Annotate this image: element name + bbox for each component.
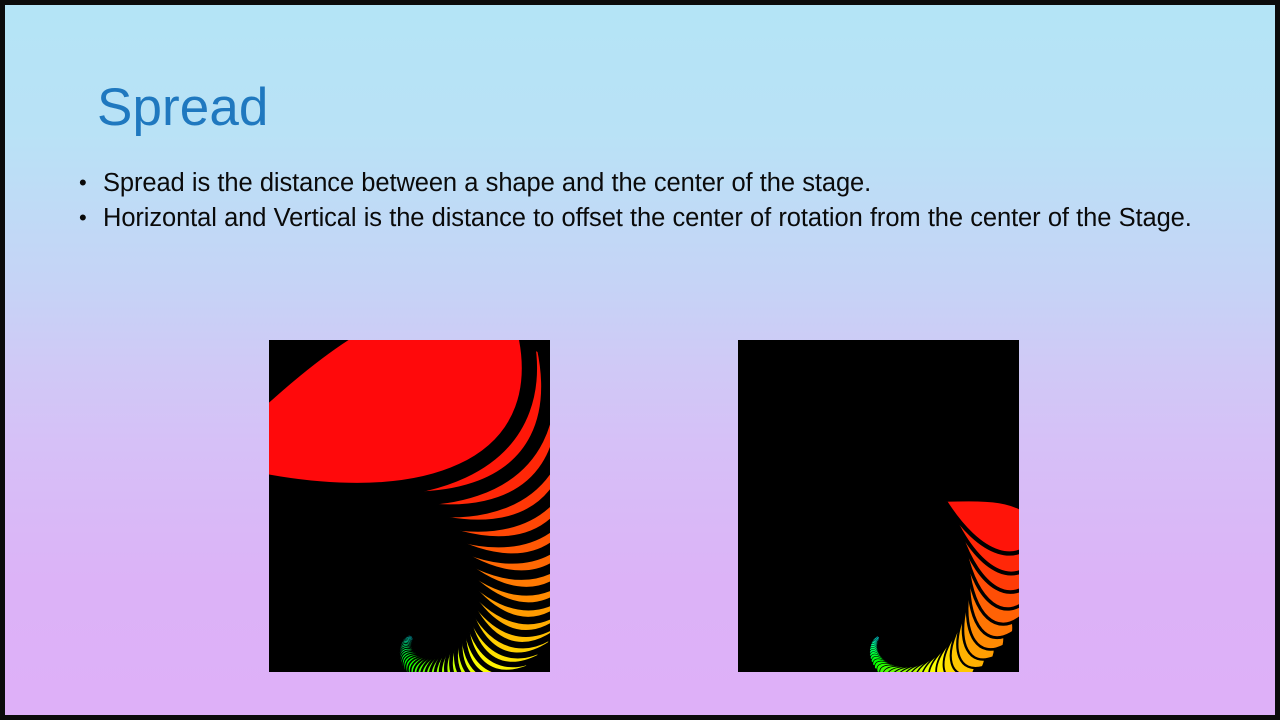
figure-spiral-high-spread [738, 340, 1019, 672]
list-item: • Horizontal and Vertical is the distanc… [73, 203, 1193, 233]
spiral-graphic-left [269, 340, 550, 672]
list-item: • Spread is the distance between a shape… [73, 168, 1193, 198]
bullet-text: Horizontal and Vertical is the distance … [103, 203, 1193, 233]
bullet-marker-icon: • [73, 168, 103, 198]
bullet-text: Spread is the distance between a shape a… [103, 168, 1193, 198]
page-title: Spread [97, 77, 997, 139]
figure-spiral-low-spread [269, 340, 550, 672]
spiral-graphic-right [738, 340, 1019, 672]
slide-canvas: Spread • Spread is the distance between … [0, 0, 1280, 720]
bullet-list: • Spread is the distance between a shape… [73, 168, 1193, 238]
bullet-marker-icon: • [73, 203, 103, 233]
